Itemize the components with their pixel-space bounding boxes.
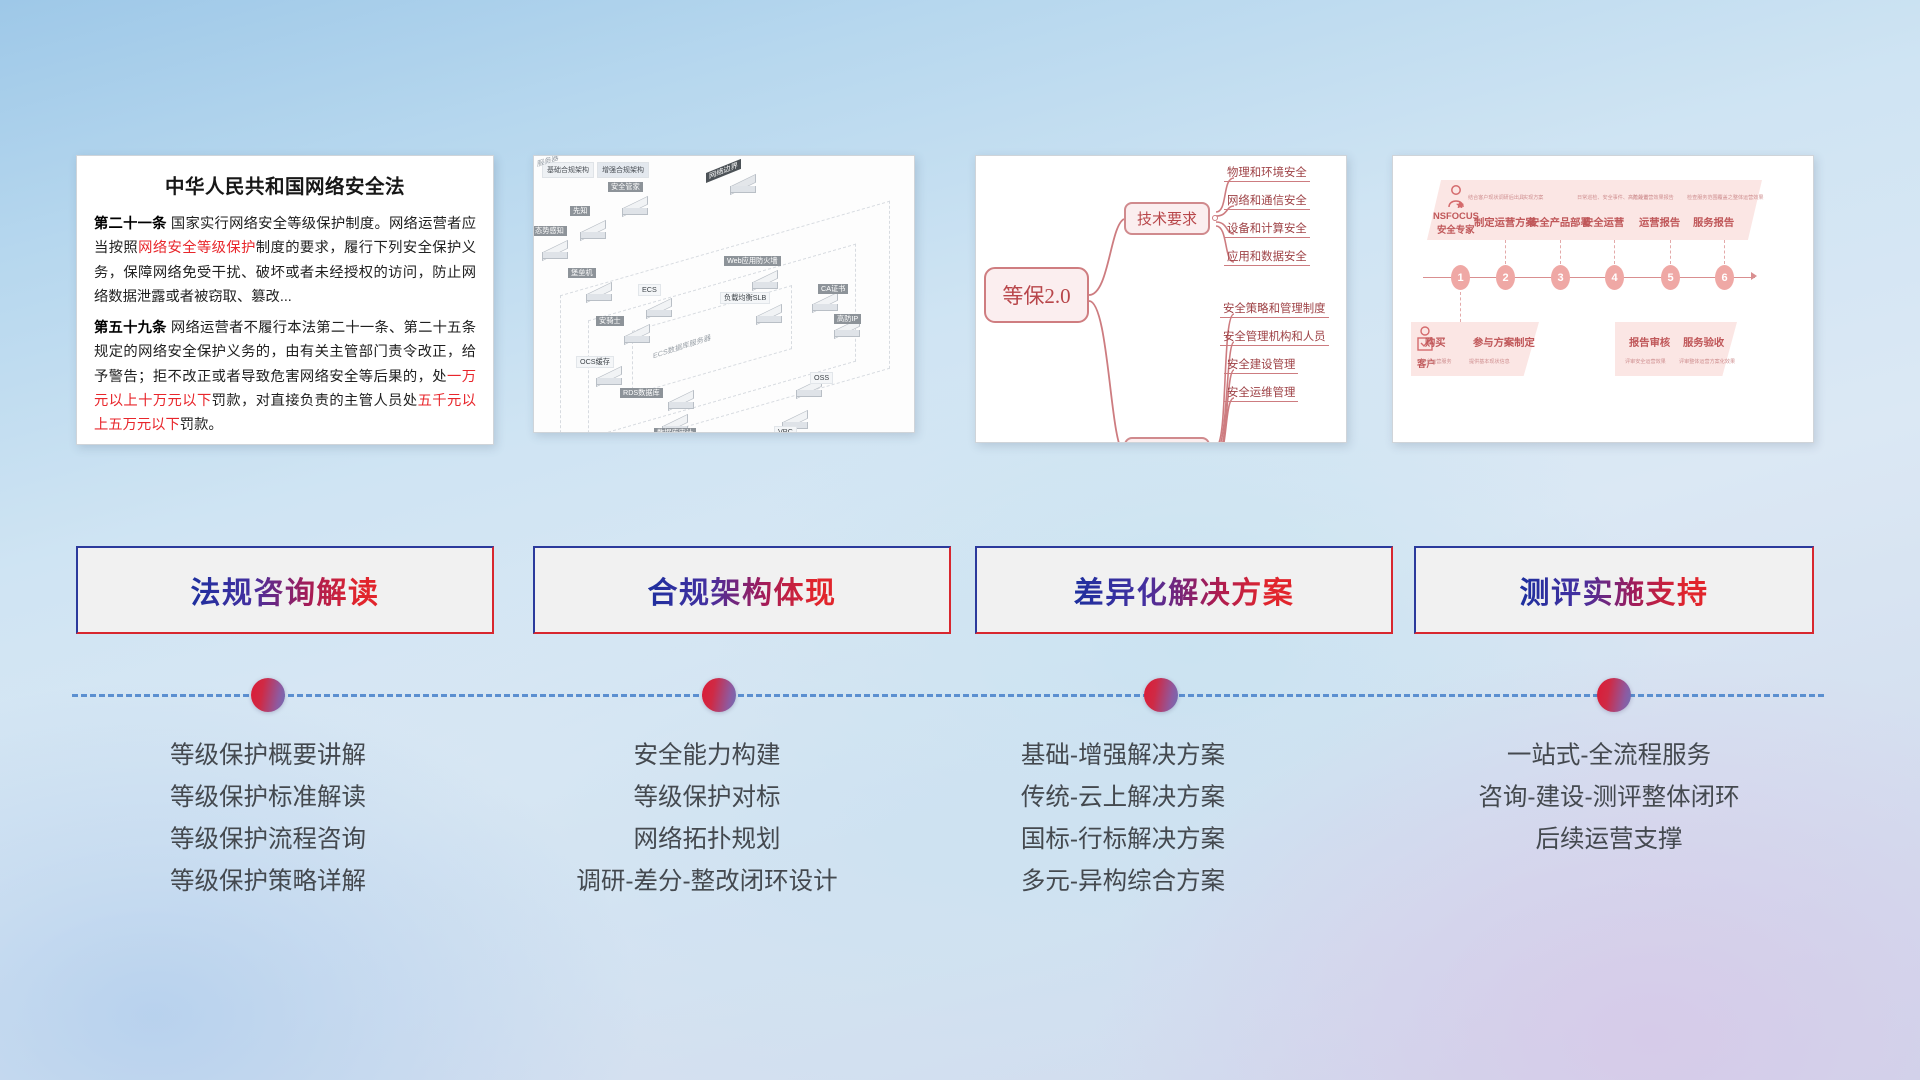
mindmap-root-node[interactable]: 等保2.0 bbox=[984, 267, 1089, 323]
law-title: 中华人民共和国网络安全法 bbox=[94, 170, 476, 199]
architecture-node-label: RDS数据库 bbox=[620, 388, 663, 398]
roadmap-bottom-sublabel: 评审整体运营方案化效果 bbox=[1679, 358, 1735, 365]
roadmap-tick bbox=[1670, 240, 1671, 264]
timeline-marker-1[interactable] bbox=[251, 678, 285, 712]
architecture-node bbox=[668, 394, 694, 412]
card-compliance-architecture[interactable]: 基础合规架构 增强合规架构 态势感知先知安全管家网络边界堡垒机ECS安骑士Web… bbox=[533, 155, 915, 433]
mindmap-collapse-icon[interactable] bbox=[1212, 215, 1218, 221]
section-title-differentiated-solution[interactable]: 差异化解决方案 bbox=[975, 546, 1393, 634]
architecture-node bbox=[834, 322, 860, 340]
law-article-number: 第二十一条 bbox=[94, 216, 167, 232]
roadmap-expert-name-line1: NSFOCUS bbox=[1433, 210, 1479, 221]
detail-item: 等级保护概要讲解 bbox=[53, 735, 483, 777]
mindmap-leaf[interactable]: 设备和计算安全 bbox=[1224, 220, 1310, 238]
detail-item: 咨询-建设-测评整体闭环 bbox=[1394, 777, 1824, 819]
timeline-marker-2[interactable] bbox=[702, 678, 736, 712]
mindmap: 等保2.0 技术要求 管理要求 物理和环境安全 网络和通信安全 设备和计算安全 … bbox=[976, 156, 1346, 442]
section-title-compliance-architecture[interactable]: 合规架构体现 bbox=[533, 546, 951, 634]
architecture-node-label: 堡垒机 bbox=[568, 268, 596, 278]
roadmap-step-sublabel: 检查服务范围覆盖之整体运营效果 bbox=[1687, 194, 1763, 201]
detail-column-3: 基础-增强解决方案 传统-云上解决方案 国标-行标解决方案 多元-异构综合方案 bbox=[908, 735, 1338, 904]
law-text-run: 罚款。 bbox=[180, 417, 223, 433]
roadmap-step-sublabel: 实现方案 bbox=[1523, 194, 1543, 201]
architecture-node-label: OSS bbox=[810, 372, 833, 384]
timeline-dashed-line bbox=[72, 694, 1824, 698]
detail-item: 网络拓扑规划 bbox=[492, 819, 922, 861]
architecture-node-label: 负载均衡SLB bbox=[720, 292, 770, 304]
timeline-marker-4[interactable] bbox=[1597, 678, 1631, 712]
detail-item: 后续运营支撑 bbox=[1394, 819, 1824, 861]
roadmap-tick bbox=[1505, 240, 1506, 264]
roadmap-step-label: 制定运营方案 bbox=[1474, 214, 1536, 229]
detail-item: 调研-差分-整改闭环设计 bbox=[492, 861, 922, 903]
architecture-node-label: 先知 bbox=[570, 206, 590, 216]
section-title-assessment-support[interactable]: 测评实施支持 bbox=[1414, 546, 1814, 634]
law-paragraph: 第二十一条 国家实行网络安全等级保护制度。网络运营者应当按照网络安全等级保护制度… bbox=[94, 212, 476, 309]
mindmap-leaf[interactable]: 安全建设管理 bbox=[1224, 356, 1298, 374]
roadmap-step-label: 安全运营 bbox=[1583, 214, 1624, 229]
detail-column-2: 安全能力构建 等级保护对标 网络拓扑规划 调研-差分-整改闭环设计 bbox=[492, 735, 922, 904]
architecture-node bbox=[622, 200, 648, 218]
detail-item: 国标-行标解决方案 bbox=[908, 819, 1338, 861]
law-paragraph: 第五十九条 网络运营者不履行本法第二十一条、第二十五条规定的网络安全保护义务的，… bbox=[94, 316, 476, 437]
roadmap-band-customer-right bbox=[1615, 322, 1737, 376]
architecture-node bbox=[730, 178, 756, 196]
mindmap-leaf[interactable]: 网络和通信安全 bbox=[1224, 192, 1310, 210]
detail-column-1: 等级保护概要讲解 等级保护标准解读 等级保护流程咨询 等级保护策略详解 bbox=[53, 735, 483, 904]
roadmap: NSFOCUS 安全专家 客户 12制定运营方案结合客户现状调研后出具3安全产品… bbox=[1393, 156, 1813, 442]
detail-item: 传统-云上解决方案 bbox=[908, 777, 1338, 819]
screenshot-cards-row: 中华人民共和国网络安全法 第二十一条 国家实行网络安全等级保护制度。网络运营者应… bbox=[0, 0, 1920, 460]
architecture-node bbox=[596, 370, 622, 388]
architecture-tabs[interactable]: 基础合规架构 增强合规架构 bbox=[542, 162, 649, 178]
tab-enhanced-architecture[interactable]: 增强合规架构 bbox=[597, 162, 649, 178]
card-dengbao-mindmap[interactable]: 等保2.0 技术要求 管理要求 物理和环境安全 网络和通信安全 设备和计算安全 … bbox=[975, 155, 1347, 443]
roadmap-tick bbox=[1724, 240, 1725, 264]
mindmap-branch-technical[interactable]: 技术要求 bbox=[1124, 202, 1210, 235]
architecture-node-label: OCS缓存 bbox=[576, 356, 614, 368]
roadmap-step-sublabel: 阶段运营效果报告 bbox=[1633, 194, 1674, 201]
roadmap-bottom-label: 参与方案制定 bbox=[1473, 334, 1535, 349]
detail-item: 等级保护标准解读 bbox=[53, 777, 483, 819]
detail-columns-row: 等级保护概要讲解 等级保护标准解读 等级保护流程咨询 等级保护策略详解 安全能力… bbox=[0, 735, 1920, 985]
architecture-node-label: 态势感知 bbox=[533, 226, 567, 236]
architecture-diagram: 基础合规架构 增强合规架构 态势感知先知安全管家网络边界堡垒机ECS安骑士Web… bbox=[534, 156, 914, 432]
mindmap-leaf[interactable]: 物理和环境安全 bbox=[1224, 164, 1310, 182]
roadmap-step-label: 安全产品部署 bbox=[1529, 214, 1591, 229]
roadmap-expert-name-line2: 安全专家 bbox=[1437, 222, 1475, 236]
architecture-node-label: 安骑士 bbox=[596, 316, 624, 326]
section-title-label: 差异化解决方案 bbox=[1074, 568, 1295, 612]
architecture-node bbox=[586, 286, 612, 304]
architecture-node-label: ECS bbox=[638, 284, 661, 296]
architecture-node bbox=[756, 308, 782, 326]
mindmap-leaf[interactable]: 安全管理机构和人员 bbox=[1220, 328, 1329, 346]
roadmap-step-2[interactable]: 2 bbox=[1496, 265, 1515, 290]
law-article-number: 第五十九条 bbox=[94, 320, 167, 336]
roadmap-bottom-label: 购买 bbox=[1425, 334, 1446, 349]
section-titles-row: 法规咨询解读 合规架构体现 差异化解决方案 测评实施支持 bbox=[0, 546, 1920, 638]
roadmap-step-4[interactable]: 4 bbox=[1605, 265, 1624, 290]
timeline-marker-3[interactable] bbox=[1144, 678, 1178, 712]
architecture-node bbox=[624, 328, 650, 346]
card-service-roadmap[interactable]: NSFOCUS 安全专家 客户 12制定运营方案结合客户现状调研后出具3安全产品… bbox=[1392, 155, 1814, 443]
architecture-node-label: Web应用防火墙 bbox=[724, 256, 781, 266]
card-cybersecurity-law[interactable]: 中华人民共和国网络安全法 第二十一条 国家实行网络安全等级保护制度。网络运营者应… bbox=[76, 155, 494, 445]
law-document: 中华人民共和国网络安全法 第二十一条 国家实行网络安全等级保护制度。网络运营者应… bbox=[77, 156, 493, 438]
roadmap-bottom-label: 报告审核 bbox=[1629, 334, 1670, 349]
law-text-run: 罚款，对直接负责的主管人员处 bbox=[212, 393, 418, 409]
roadmap-step-3[interactable]: 3 bbox=[1551, 265, 1570, 290]
architecture-node bbox=[796, 382, 822, 400]
detail-item: 等级保护对标 bbox=[492, 777, 922, 819]
roadmap-bottom-sublabel: 提供基本现状信息 bbox=[1469, 358, 1510, 365]
roadmap-bottom-sublabel: 安全运营服务 bbox=[1421, 358, 1452, 365]
roadmap-step-sublabel: 结合客户现状调研后出具 bbox=[1468, 194, 1524, 201]
mindmap-branch-management[interactable]: 管理要求 bbox=[1124, 437, 1210, 443]
architecture-node bbox=[580, 224, 606, 242]
roadmap-tick bbox=[1560, 240, 1561, 264]
roadmap-step-5[interactable]: 5 bbox=[1661, 265, 1680, 290]
architecture-node-label: CA证书 bbox=[818, 284, 848, 294]
section-title-label: 法规咨询解读 bbox=[191, 568, 380, 612]
roadmap-axis bbox=[1423, 277, 1755, 278]
architecture-node-label: 高防IP bbox=[834, 314, 861, 324]
architecture-node-label: VPC bbox=[774, 426, 797, 433]
architecture-node-label: 数据库审计 bbox=[654, 428, 696, 433]
section-title-label: 合规架构体现 bbox=[648, 568, 837, 612]
roadmap-step-label: 运营报告 bbox=[1639, 214, 1680, 229]
mindmap-leaf[interactable]: 安全策略和管理制度 bbox=[1220, 300, 1329, 318]
architecture-node-label: 安全管家 bbox=[608, 182, 643, 192]
roadmap-arrow-icon bbox=[1751, 272, 1757, 280]
detail-item: 等级保护流程咨询 bbox=[53, 819, 483, 861]
roadmap-step-6[interactable]: 6 bbox=[1715, 265, 1734, 290]
detail-item: 一站式-全流程服务 bbox=[1394, 735, 1824, 777]
mindmap-leaf[interactable]: 应用和数据安全 bbox=[1224, 248, 1310, 266]
roadmap-bottom-sublabel: 评审安全运营效果 bbox=[1625, 358, 1666, 365]
person-star-icon bbox=[1445, 184, 1467, 208]
roadmap-tick bbox=[1614, 240, 1615, 264]
roadmap-bottom-label: 服务验收 bbox=[1683, 334, 1724, 349]
detail-item: 基础-增强解决方案 bbox=[908, 735, 1338, 777]
mindmap-leaf[interactable]: 安全运维管理 bbox=[1224, 384, 1298, 402]
detail-item: 多元-异构综合方案 bbox=[908, 861, 1338, 903]
roadmap-tick bbox=[1460, 292, 1461, 322]
detail-column-4: 一站式-全流程服务 咨询-建设-测评整体闭环 后续运营支撑 bbox=[1394, 735, 1824, 861]
roadmap-step-label: 服务报告 bbox=[1693, 214, 1734, 229]
section-title-label: 测评实施支持 bbox=[1520, 568, 1709, 612]
architecture-node bbox=[646, 302, 672, 320]
section-title-regulation-consulting[interactable]: 法规咨询解读 bbox=[76, 546, 494, 634]
roadmap-step-1[interactable]: 1 bbox=[1451, 265, 1470, 290]
architecture-node bbox=[752, 274, 778, 292]
law-text-run-highlight: 网络安全等级保护 bbox=[138, 240, 256, 256]
architecture-node bbox=[812, 296, 838, 314]
detail-item: 安全能力构建 bbox=[492, 735, 922, 777]
detail-item: 等级保护策略详解 bbox=[53, 861, 483, 903]
architecture-node bbox=[542, 244, 568, 262]
